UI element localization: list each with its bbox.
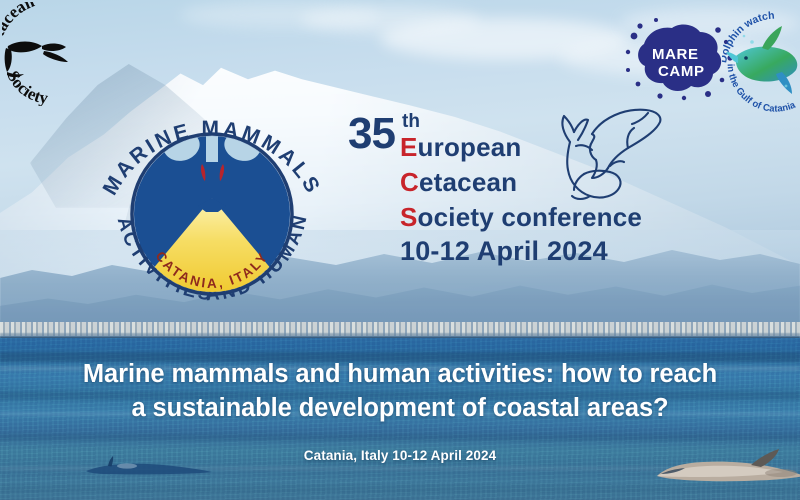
mare-camp-line1: MARE [652,46,699,63]
headline-line-1: Marine mammals and human activities: how… [83,360,717,388]
dolphin-watch-logo: Dolphin watch in the Gulf of Catania [722,0,800,122]
marine-mammals-human-activities-emblem: MARINE MAMMALS ACTIVITIES AND HUMAN [88,88,336,306]
title-line-cetacean: Cetacean [400,169,517,195]
title-european-rest: uropean [418,132,522,162]
edition-ordinal-suffix: th [402,112,420,131]
headline-line-2: a sustainable development of coastal are… [0,392,800,426]
sea-band [0,434,800,441]
initial-letter-c: C [400,167,419,197]
mare-camp-logo: MARE CAMP [622,14,734,102]
title-dates: 10-12 April 2024 [400,238,608,265]
initial-letter-e: E [400,132,418,162]
conference-title-block: 35 th European Cetacean Society conferen… [348,110,708,262]
title-society-rest: ociety conference [418,202,643,232]
title-line-society: Society conference [400,204,642,230]
european-cetacean-society-logo: Cetacean Society [2,2,98,106]
headline-subtitle: Catania, Italy 10-12 April 2024 [0,448,800,463]
conference-banner: Cetacean Society [0,0,800,500]
initial-letter-s: S [400,202,418,232]
title-line-european: European [400,134,522,160]
mare-camp-line2: CAMP [658,63,705,80]
title-cetacean-rest: etacean [419,167,517,197]
banner-headline: Marine mammals and human activities: how… [0,358,800,426]
edition-number: 35 [348,112,395,156]
